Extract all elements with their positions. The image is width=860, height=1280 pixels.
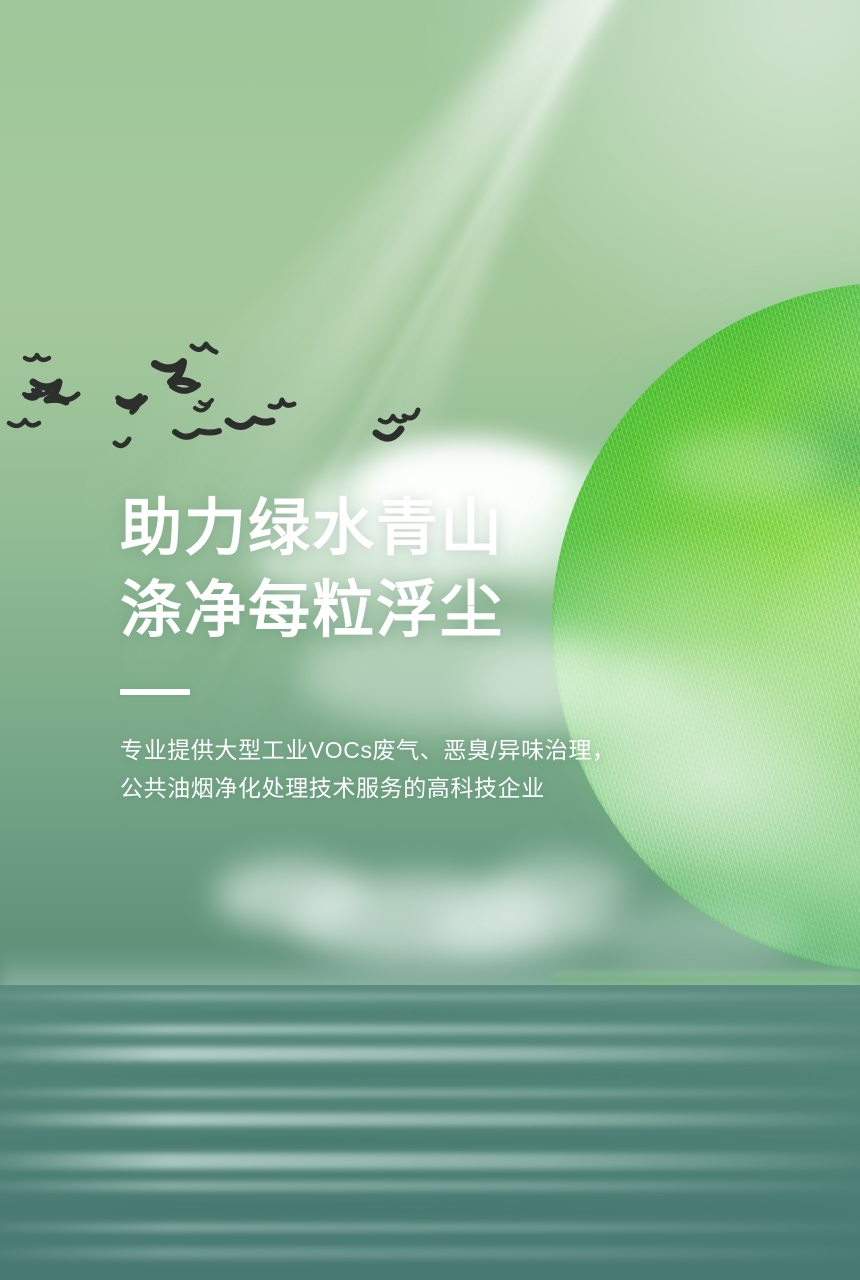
water-band-4 (0, 1047, 860, 1061)
water-band-11 (0, 1201, 860, 1215)
headline-divider (120, 689, 190, 695)
water-band-2 (0, 1009, 860, 1019)
subtitle-line-1: 专业提供大型工业VOCs废气、恶臭/异味治理， (120, 731, 740, 769)
water-band-3 (0, 1025, 860, 1034)
hero-text-block: 助力绿水青山 涤净每粒浮尘 专业提供大型工业VOCs废气、恶臭/异味治理， 公共… (120, 488, 740, 807)
headline-line-1: 助力绿水青山 (120, 488, 740, 570)
water-band-1 (0, 993, 860, 1000)
headline-line-2: 涤净每粒浮尘 (120, 570, 740, 652)
water-band-5 (0, 1069, 860, 1081)
water-band-8 (0, 1135, 860, 1146)
flying-birds-flock (0, 330, 470, 460)
water-band-12 (0, 1223, 860, 1232)
water-band-7 (0, 1113, 860, 1126)
water-band-6 (0, 1089, 860, 1097)
water-band-9 (0, 1153, 860, 1169)
subtitle-line-2: 公共油烟净化处理技术服务的高科技企业 (120, 769, 740, 807)
poster-banner: 助力绿水青山 涤净每粒浮尘 专业提供大型工业VOCs废气、恶臭/异味治理， 公共… (0, 0, 860, 1280)
water-surface (0, 985, 860, 1280)
water-band-13 (0, 1247, 860, 1259)
cloud-low-4 (490, 855, 630, 921)
water-band-10 (0, 1181, 860, 1191)
